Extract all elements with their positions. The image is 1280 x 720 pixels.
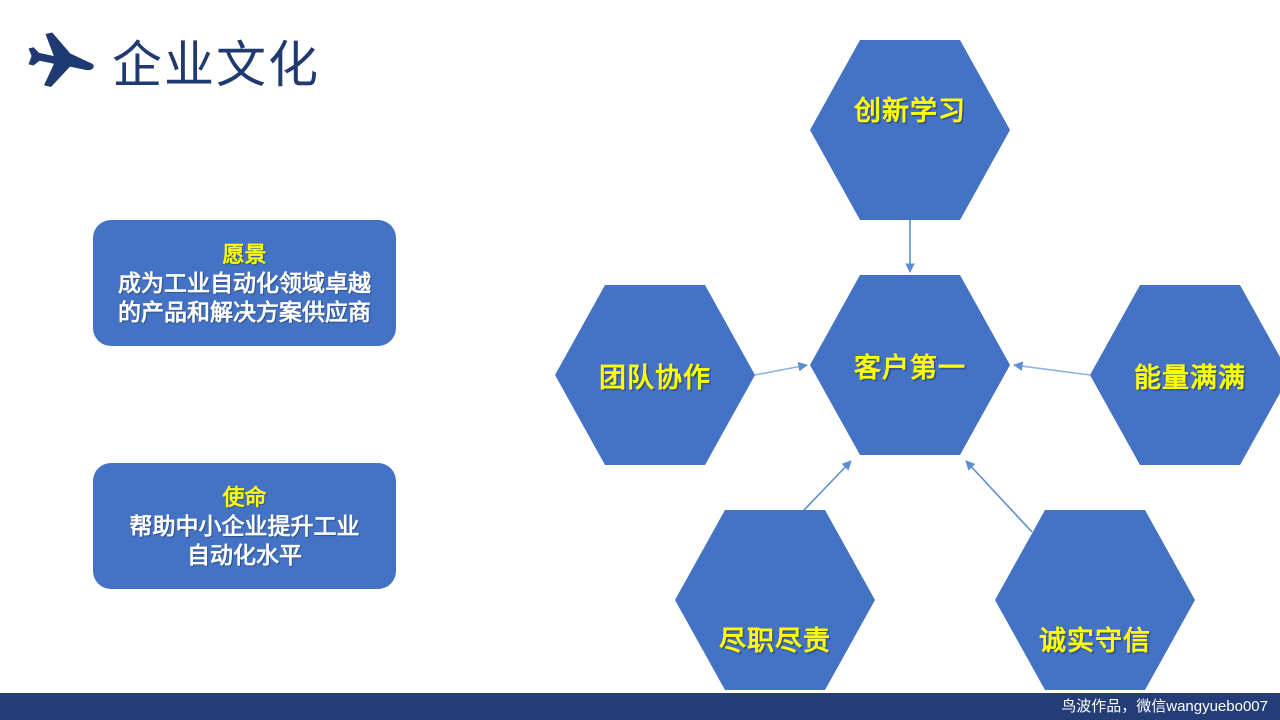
hexagon-innovation-label: 创新学习 — [854, 89, 966, 128]
hexagon-diligence[interactable]: 尽职尽责 — [675, 510, 875, 690]
page-title: 企业文化 — [112, 31, 320, 99]
hexagon-innovation[interactable]: 创新学习 — [810, 40, 1010, 220]
footer-credit-text: 鸟波作品，微信wangyuebo007 — [1061, 693, 1268, 720]
mission-card: 使命 帮助中小企业提升工业 自动化水平 — [93, 463, 396, 589]
hexagon-customer-first-label: 客户第一 — [854, 346, 966, 385]
hexagon-energy[interactable]: 能量满满 — [1090, 285, 1280, 465]
hexagon-energy-label: 能量满满 — [1134, 356, 1246, 395]
hexagon-diligence-label: 尽职尽责 — [719, 619, 831, 658]
hexagon-integrity[interactable]: 诚实守信 — [995, 510, 1195, 690]
footer-bar: 鸟波作品，微信wangyuebo007 — [0, 693, 1280, 720]
hexagon-customer-first[interactable]: 客户第一 — [810, 275, 1010, 455]
mission-card-body: 帮助中小企业提升工业 自动化水平 — [130, 512, 360, 570]
mission-card-title: 使命 — [222, 484, 266, 512]
vision-card: 愿景 成为工业自动化领域卓越 的产品和解决方案供应商 — [93, 220, 396, 346]
hexagon-teamwork[interactable]: 团队协作 — [555, 285, 755, 465]
slide-header: 企业文化 — [0, 0, 520, 120]
vision-card-title: 愿景 — [222, 241, 266, 269]
hexagon-integrity-label: 诚实守信 — [1039, 619, 1151, 658]
slide-canvas: 企业文化 愿景 成为工业自动化领域卓越 的产品和解决方案供应商 使命 帮助中小企… — [0, 0, 1280, 720]
airplane-icon — [25, 31, 95, 99]
hexagon-teamwork-label: 团队协作 — [599, 356, 711, 395]
hexagon-cluster: 创新学习 团队协作 客户第一 能量满满 尽职尽责 诚实守信 — [540, 20, 1280, 690]
vision-card-body: 成为工业自动化领域卓越 的产品和解决方案供应商 — [118, 269, 371, 327]
